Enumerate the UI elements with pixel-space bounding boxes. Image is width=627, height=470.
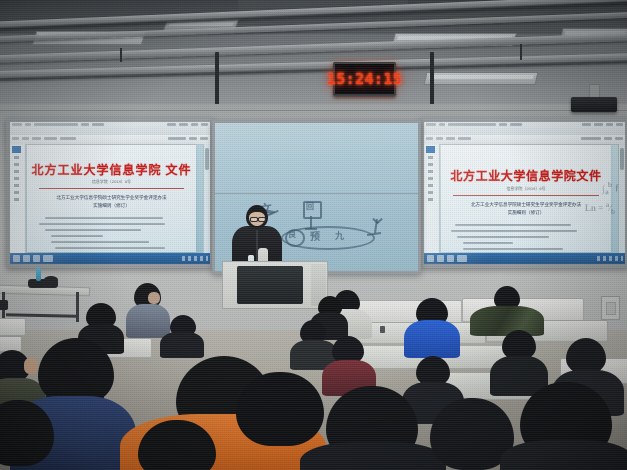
lecture-hall-photo: 15:24:15 — [0, 0, 627, 470]
torso — [500, 440, 627, 470]
ceiling-hanger-3 — [120, 48, 122, 62]
torso — [160, 332, 204, 358]
right-doc-subtitle: 信息学院〔2019〕6号 — [441, 186, 611, 192]
blue-hoodie — [404, 320, 460, 358]
left-word-ribbon — [10, 122, 210, 136]
head — [236, 372, 324, 446]
projector-icon — [571, 97, 617, 112]
torso — [300, 442, 446, 470]
right-word-toolbar — [424, 135, 625, 145]
right-word-ribbon — [424, 122, 625, 136]
right-screen-scrollbar[interactable] — [618, 144, 625, 253]
left-doc-heading: 北方工业大学信息学院硕士研究生学业奖学金评定办法 — [27, 195, 196, 201]
ceiling-hanger-2 — [430, 52, 434, 110]
right-doc-title: 北方工业大学信息学院文件 — [441, 167, 611, 184]
left-screen-taskbar[interactable] — [10, 253, 210, 264]
left-screen-scrollbar[interactable] — [203, 144, 210, 253]
left-doc-subtitle: 信息学院〔2019〕6号 — [27, 179, 196, 185]
whiteboard-ink-3: 良 — [288, 229, 296, 240]
blue-bottle — [36, 268, 41, 281]
face — [148, 292, 160, 304]
right-screen-taskbar[interactable] — [424, 253, 625, 264]
ceiling — [0, 0, 627, 112]
presenter-glasses-right — [258, 217, 266, 222]
led-clock: 15:24:15 — [333, 62, 396, 96]
left-document-page: 北方工业大学信息学院 文件 信息学院〔2019〕6号 北方工业大学信息学院硕士研… — [27, 145, 196, 252]
side-desk-1 — [0, 318, 26, 336]
ceiling-hanger-1 — [215, 52, 219, 112]
ceiling-light-3 — [423, 72, 538, 85]
right-screen-ink-overlay: ∫ab ƒ — [601, 179, 620, 197]
torso — [126, 304, 170, 338]
camouflage-jacket — [470, 306, 544, 336]
right-word-navigation-pane[interactable] — [424, 144, 440, 253]
presenter-glasses-left — [250, 217, 258, 222]
head — [566, 338, 606, 374]
right-screen-ink-overlay-2: Ln = a⁄b — [585, 200, 615, 216]
whiteboard-ink-4: 预 — [310, 228, 320, 243]
clock-time: 15:24:15 — [327, 70, 402, 88]
right-screen-surface: 北方工业大学信息学院文件 信息学院〔2019〕6号 北方工业大学信息学院硕士研究… — [424, 122, 625, 264]
right-projection-screen[interactable]: 北方工业大学信息学院文件 信息学院〔2019〕6号 北方工业大学信息学院硕士研究… — [420, 118, 627, 268]
left-screen-surface: 北方工业大学信息学院 文件 信息学院〔2019〕6号 北方工业大学信息学院硕士研… — [10, 122, 210, 264]
lectern — [222, 261, 328, 309]
right-document-page: 北方工业大学信息学院文件 信息学院〔2019〕6号 北方工业大学信息学院硕士研究… — [441, 145, 611, 252]
wall-socket-panel — [601, 296, 620, 320]
hand — [24, 358, 38, 374]
left-projection-screen[interactable]: 北方工业大学信息学院 文件 信息学院〔2019〕6号 北方工业大学信息学院硕士研… — [6, 118, 214, 268]
side-object — [0, 300, 8, 310]
table-equipment — [44, 276, 58, 284]
left-word-navigation-pane[interactable] — [10, 144, 26, 253]
left-doc-title: 北方工业大学信息学院 文件 — [27, 161, 196, 178]
whiteboard-ink-5: 九 — [335, 229, 344, 242]
whiteboard-ink-2: 回 — [306, 201, 314, 212]
lectern-panel — [237, 266, 303, 304]
side-table-leg-2 — [76, 292, 79, 322]
left-doc-heading2: 实施细则（修订） — [27, 203, 196, 209]
left-word-toolbar — [10, 135, 210, 145]
desk-notch-1 — [380, 326, 385, 333]
whiteboard-seam — [215, 193, 418, 195]
ceiling-hanger-4 — [520, 44, 522, 60]
